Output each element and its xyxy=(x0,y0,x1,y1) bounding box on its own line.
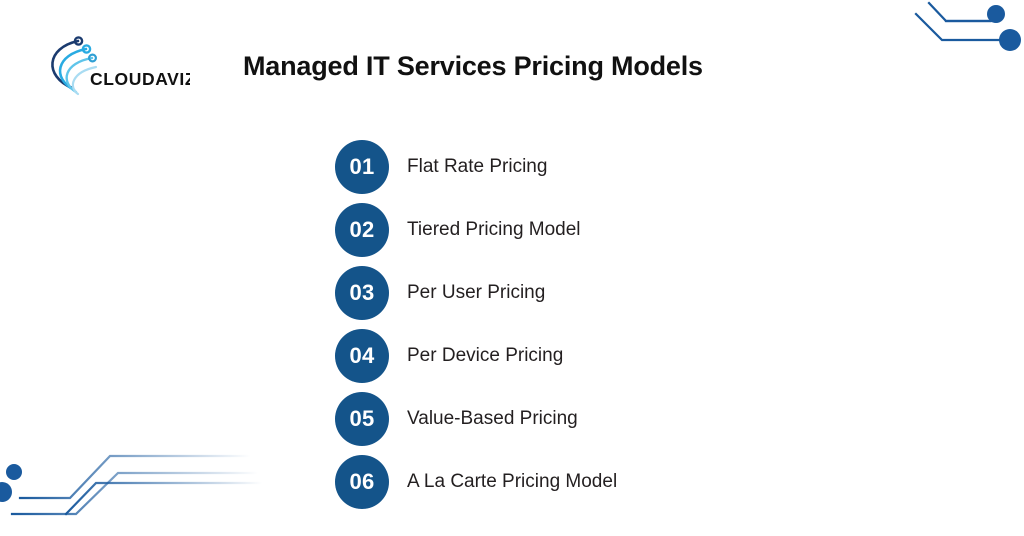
circuit-traces-top-right-icon xyxy=(680,0,1024,64)
item-number-badge: 05 xyxy=(335,392,389,446)
infographic-canvas: CLOUDAVIZE Managed IT Services Pricing M… xyxy=(0,0,1024,536)
list-item: 04 Per Device Pricing xyxy=(335,329,895,383)
list-item: 01 Flat Rate Pricing xyxy=(335,140,895,194)
list-item: 06 A La Carte Pricing Model xyxy=(335,455,895,509)
item-label: A La Carte Pricing Model xyxy=(407,471,617,493)
circuit-traces-bottom-left-icon xyxy=(0,440,270,536)
cloudavize-logo: CLOUDAVIZE xyxy=(34,32,190,98)
item-label: Value-Based Pricing xyxy=(407,408,578,430)
page-title: Managed IT Services Pricing Models xyxy=(243,51,703,82)
item-number-badge: 01 xyxy=(335,140,389,194)
list-item: 03 Per User Pricing xyxy=(335,266,895,320)
item-label: Tiered Pricing Model xyxy=(407,219,581,241)
item-label: Per User Pricing xyxy=(407,282,545,304)
item-number-badge: 04 xyxy=(335,329,389,383)
item-number-badge: 06 xyxy=(335,455,389,509)
list-item: 05 Value-Based Pricing xyxy=(335,392,895,446)
logo-wordmark: CLOUDAVIZE xyxy=(90,69,190,89)
item-label: Per Device Pricing xyxy=(407,345,563,367)
item-number-badge: 03 xyxy=(335,266,389,320)
pricing-models-list: 01 Flat Rate Pricing 02 Tiered Pricing M… xyxy=(335,140,895,518)
item-label: Flat Rate Pricing xyxy=(407,156,547,178)
list-item: 02 Tiered Pricing Model xyxy=(335,203,895,257)
item-number-badge: 02 xyxy=(335,203,389,257)
